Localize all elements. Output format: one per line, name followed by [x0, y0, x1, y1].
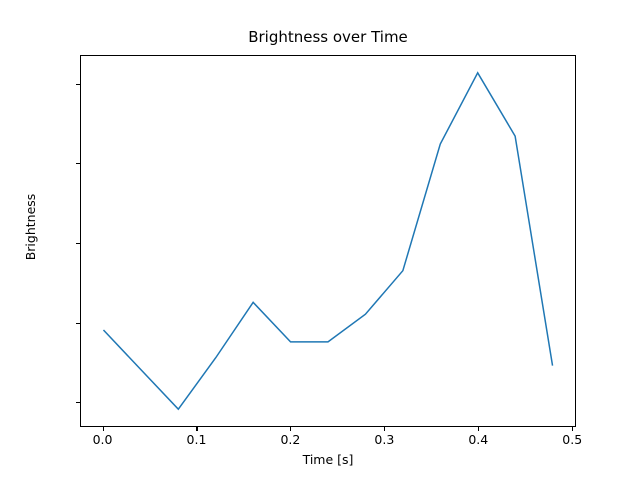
x-tick-mark	[103, 427, 104, 431]
x-tick-label: 0.2	[280, 432, 300, 447]
chart-title: Brightness over Time	[80, 28, 576, 46]
x-axis-label: Time [s]	[80, 452, 576, 467]
chart-figure: Brightness over Time 100120140160180 0.0…	[0, 0, 640, 480]
x-tick-label: 0.1	[187, 432, 207, 447]
line-series-brightness	[81, 56, 575, 426]
x-tick-label: 0.5	[562, 432, 582, 447]
plot-area	[80, 55, 576, 427]
x-tick-label: 0.0	[93, 432, 113, 447]
x-tick-label: 0.3	[374, 432, 394, 447]
y-axis-label: Brightness	[22, 41, 40, 413]
x-tick-mark	[196, 427, 197, 431]
x-tick-mark	[572, 427, 573, 431]
x-tick-mark	[384, 427, 385, 431]
x-tick-label: 0.4	[468, 432, 488, 447]
x-tick-mark	[478, 427, 479, 431]
x-tick-mark	[290, 427, 291, 431]
series-polyline	[103, 73, 552, 409]
